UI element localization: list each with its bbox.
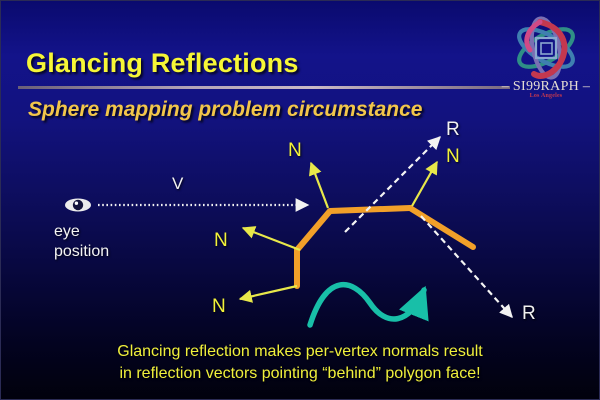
eye-position-label: eye position [54,222,109,262]
view-vector-label: V [172,174,183,194]
normal-label-1: N [212,296,226,318]
slide-canvas: Glancing Reflections Sphere mapping prob… [0,0,600,400]
normal-vector-3 [311,163,328,208]
reflection-diagram [0,0,600,400]
normal-vector-1 [240,286,297,299]
emphasis-curve-arrow [310,285,424,325]
normal-vector-2 [243,228,300,250]
caption-line-1: Glancing reflection makes per-vertex nor… [0,341,600,363]
reflection-vector-lower [421,216,512,317]
eye-position-label-line2: position [54,242,109,262]
polygon-surface [297,208,473,286]
eye-position-label-line1: eye [54,222,109,242]
reflection-label-lower: R [522,303,536,325]
slide-caption: Glancing reflection makes per-vertex nor… [0,341,600,385]
normal-label-3: N [288,140,302,162]
normal-vector-4 [412,162,437,206]
reflection-label-upper: R [446,119,460,141]
normal-label-2: N [214,230,228,252]
normal-label-4: N [446,146,460,168]
caption-line-2: in reflection vectors pointing “behind” … [0,363,600,385]
eye-icon [65,199,91,212]
